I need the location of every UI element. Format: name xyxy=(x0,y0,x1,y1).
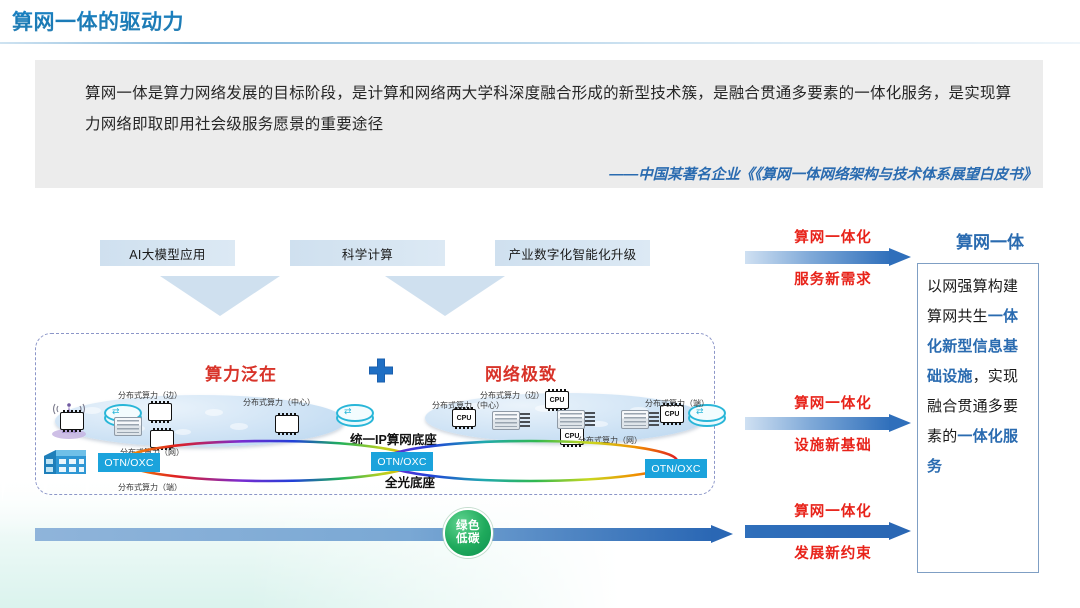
green-lowcarbon-badge: 绿色 低碳 xyxy=(443,508,493,558)
title-divider xyxy=(0,42,1080,44)
datacenter-building-icon xyxy=(40,446,90,480)
arrow-shaft xyxy=(745,251,891,264)
driver-arrow-icon xyxy=(745,415,921,432)
server-rack-icon xyxy=(621,410,649,429)
arrow-shaft xyxy=(745,525,891,538)
otn-oxc-node-right[interactable]: OTN/OXC xyxy=(645,459,707,478)
compute-chip-icon xyxy=(60,412,84,430)
driver-bottom-label: 设施新基础 xyxy=(745,434,921,455)
driver-top-label: 算网一体化 xyxy=(745,500,921,521)
arrow-head xyxy=(889,522,911,540)
driver-arrow-icon xyxy=(745,523,921,540)
arrow-head xyxy=(711,525,733,543)
heading-extreme-network: 网络极致 xyxy=(485,360,557,385)
driver-group-service-demand: 算网一体化 服务新需求 xyxy=(745,226,921,289)
server-rack-icon xyxy=(557,410,585,429)
cpu-chip-label: CPU xyxy=(665,411,680,418)
decorative-stripes-bottom-left xyxy=(0,478,620,608)
cloud-bubble xyxy=(230,423,248,430)
label-distributed-compute-center: 分布式算力（中心） xyxy=(243,397,315,408)
quote-citation: ——中国某著名企业《《算网一体网络架构与技术体系展望白皮书》 xyxy=(609,163,1037,184)
otn-oxc-node-left[interactable]: OTN/OXC xyxy=(98,453,160,472)
page-title: 算网一体的驱动力 xyxy=(12,6,184,36)
badge-line-1: 绿色 xyxy=(456,520,480,533)
quote-body-text: 算网一体是算力网络发展的目标阶段，是计算和网络两大学科深度融合形成的新型技术簇，… xyxy=(85,78,1015,140)
source-box-ai-model[interactable]: AI大模型应用 xyxy=(100,240,235,266)
stripe-fade-right xyxy=(0,478,620,608)
funnel-arrow-left-icon xyxy=(160,276,280,316)
server-rack-icon xyxy=(492,411,520,430)
stripe-pattern xyxy=(0,478,620,608)
cpu-chip-label: CPU xyxy=(457,415,472,422)
driver-arrow-icon xyxy=(745,249,921,266)
driver-group-development-constraint: 算网一体化 发展新约束 xyxy=(745,500,921,563)
cpu-chip-label: CPU xyxy=(550,397,565,404)
cloud-bubble xyxy=(175,429,191,435)
compute-chip-icon xyxy=(275,415,299,433)
server-rack-icon xyxy=(114,417,142,436)
funnel-arrow-right-icon xyxy=(385,276,505,316)
source-box-industry-digitalization[interactable]: 产业数字化智能化升级 xyxy=(495,240,650,266)
router-icon: ⇄ xyxy=(336,404,370,426)
driver-top-label: 算网一体化 xyxy=(745,392,921,413)
heading-ubiquitous-compute: 算力泛在 xyxy=(205,360,277,385)
arrow-head xyxy=(889,414,911,432)
arrow-head xyxy=(889,248,911,266)
conclusion-heading: 算网一体 xyxy=(934,228,1046,253)
driver-group-infrastructure-base: 算网一体化 设施新基础 xyxy=(745,392,921,455)
conclusion-panel: 以网强算构建算网共生一体化新型信息基础设施，实现融合贯通多要素的一体化服务 xyxy=(917,263,1039,573)
router-arrows-icon: ⇄ xyxy=(112,407,120,416)
quote-callout-box: 算网一体是算力网络发展的目标阶段，是计算和网络两大学科深度融合形成的新型技术簇，… xyxy=(35,60,1043,188)
badge-line-2: 低碳 xyxy=(456,533,480,546)
driver-top-label: 算网一体化 xyxy=(745,226,921,247)
otn-oxc-node-center[interactable]: OTN/OXC xyxy=(371,452,433,471)
conclusion-body-text: 以网强算构建算网共生一体化新型信息基础设施，实现融合贯通多要素的一体化服务 xyxy=(918,264,1038,482)
router-disc xyxy=(336,404,374,422)
plus-icon xyxy=(367,358,395,386)
compute-chip-icon xyxy=(148,403,172,421)
arrow-shaft xyxy=(745,417,891,430)
arrow-shaft xyxy=(35,528,713,541)
router-arrows-icon: ⇄ xyxy=(344,407,352,416)
cpu-chip-icon: CPU xyxy=(545,391,569,409)
driver-bottom-label: 服务新需求 xyxy=(745,268,921,289)
source-box-scientific-computing[interactable]: 科学计算 xyxy=(290,240,445,266)
stripe-fade-top xyxy=(0,478,620,608)
label-distributed-compute-edge: 分布式算力（边） xyxy=(118,390,182,401)
driver-bottom-label: 发展新约束 xyxy=(745,542,921,563)
cloud-bubble xyxy=(205,409,223,416)
label-distributed-compute-device: 分布式算力（端） xyxy=(645,398,709,409)
label-distributed-compute-center: 分布式算力（中心） xyxy=(432,400,504,411)
cpu-chip-icon: CPU xyxy=(452,409,476,427)
green-lowcarbon-arrow xyxy=(35,527,735,543)
